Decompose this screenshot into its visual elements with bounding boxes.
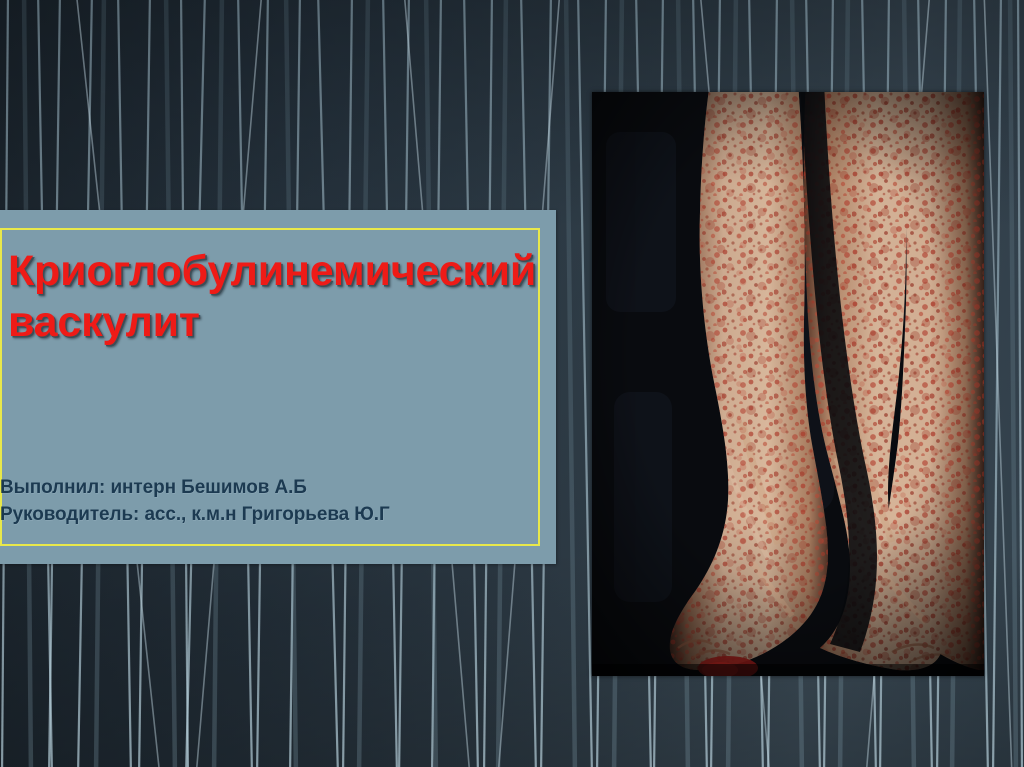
- title-card: Криоглобулинемический васкулит Выполнил:…: [0, 210, 556, 564]
- clinical-photo-legs-purpura: [592, 92, 984, 676]
- page-title: Криоглобулинемический васкулит: [8, 246, 528, 347]
- title-slide: Криоглобулинемический васкулит Выполнил:…: [0, 0, 1024, 767]
- supervisor-line: Руководитель: асс., к.м.н Григорьева Ю.Г: [0, 502, 540, 529]
- author-credits: Выполнил: интерн Бешимов А.Б Руководител…: [0, 475, 540, 529]
- author-line: Выполнил: интерн Бешимов А.Б: [0, 475, 540, 502]
